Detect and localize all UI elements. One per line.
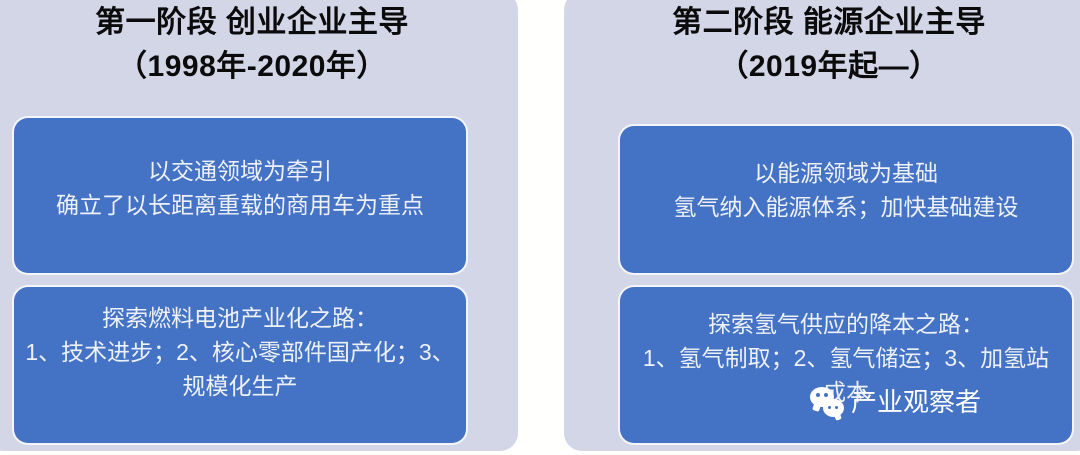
stage-one-subtitle: （1998年-2020年） [0,50,518,84]
stage-two-card-path: 探索氢气供应的降本之路： 1、氢气制取；2、氢气储运；3、加氢站 成本 产业观察… [620,287,1072,443]
card-text-line: 氢气纳入能源体系；加快基础建设 [620,190,1072,224]
stage-two-card-focus: 以能源领域为基础 氢气纳入能源体系；加快基础建设 [620,126,1072,273]
card-text-line: 1、氢气制取；2、氢气储运；3、加氢站 [620,341,1072,375]
stage-two-subtitle: （2019年起—） [564,50,1080,84]
stage-one-card-focus: 以交通领域为牵引 确立了以长距离重载的商用车为重点 [14,118,466,273]
card-text-line: 以能源领域为基础 [620,156,1072,190]
stage-one-card-path: 探索燃料电池产业化之路： 1、技术进步；2、核心零部件国产化；3、 规模化生产 [14,287,466,443]
card-text-line: 探索燃料电池产业化之路： [14,301,466,335]
card-text-line: 以交通领域为牵引 [14,154,466,188]
diagram-canvas: 第一阶段 创业企业主导 （1998年-2020年） 以交通领域为牵引 确立了以长… [0,0,1080,455]
card-text-line: 规模化生产 [14,369,466,403]
stage-one-title: 第一阶段 创业企业主导 [0,6,518,40]
card-text-line: 确立了以长距离重载的商用车为重点 [14,188,466,222]
card-text-line: 1、技术进步；2、核心零部件国产化；3、 [14,335,466,369]
card-text-line: 探索氢气供应的降本之路： [620,307,1072,341]
stage-two-title: 第二阶段 能源企业主导 [564,6,1080,40]
card-text-line: 成本 [620,375,1072,409]
